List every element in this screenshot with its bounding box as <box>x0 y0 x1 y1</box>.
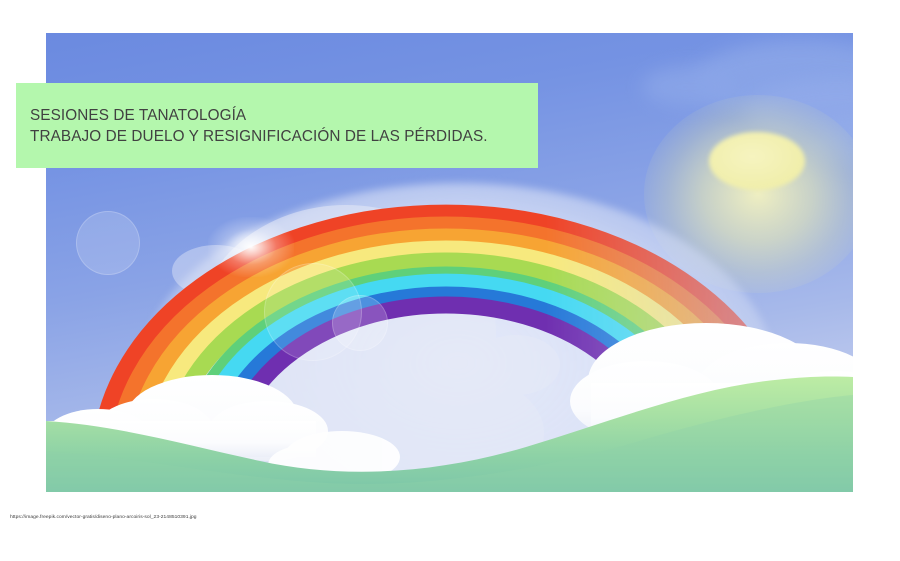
slide-canvas: SESIONES DE TANATOLOGÍA TRABAJO DE DUELO… <box>0 0 900 561</box>
title-textbox[interactable]: SESIONES DE TANATOLOGÍA TRABAJO DE DUELO… <box>16 83 538 168</box>
title-line-1: SESIONES DE TANATOLOGÍA <box>30 105 538 126</box>
image-source-caption: https://image.freepik.com/vector-gratis/… <box>10 515 197 520</box>
title-line-2: TRABAJO DE DUELO Y RESIGNIFICACIÓN DE LA… <box>30 126 538 147</box>
